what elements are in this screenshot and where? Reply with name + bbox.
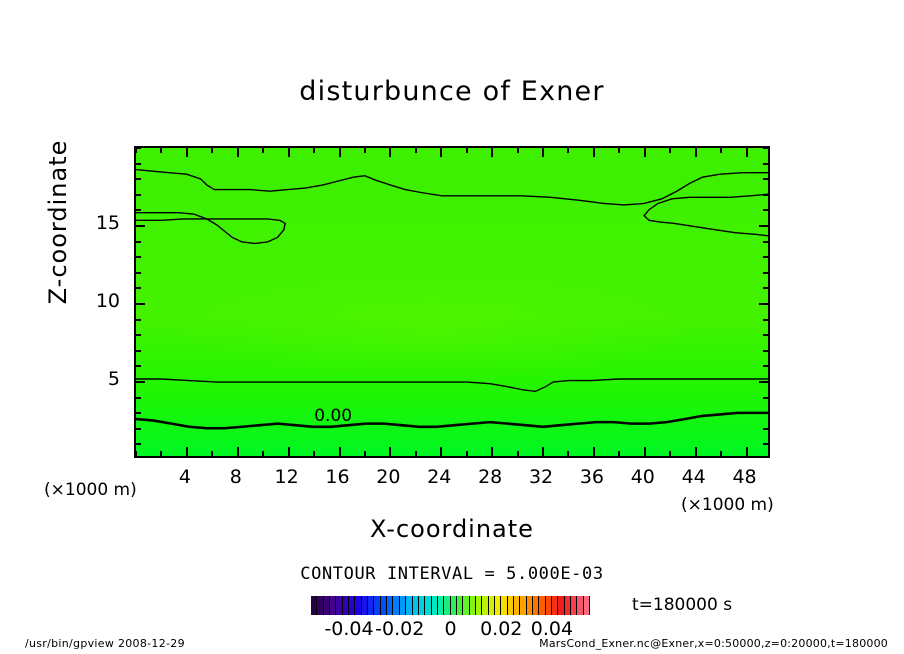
x-tick [262, 451, 264, 456]
x-tick-label: 32 [513, 466, 569, 488]
x-tick-top [720, 148, 722, 153]
y-axis-title: Z-coordinate [44, 122, 72, 322]
x-tick-label: 48 [717, 466, 773, 488]
x-tick [746, 447, 748, 456]
x-tick-top [567, 148, 569, 153]
contour-plot-area[interactable] [134, 146, 770, 458]
x-tick [466, 451, 468, 456]
x-tick-label: 20 [360, 466, 416, 488]
x-tick-top [618, 148, 620, 153]
y-tick [136, 397, 141, 399]
x-tick [593, 447, 595, 456]
x-tick-top [644, 148, 646, 157]
x-tick-top [415, 148, 417, 153]
x-tick-top [695, 148, 697, 157]
x-tick [618, 451, 620, 456]
y-tick-right [763, 256, 768, 258]
y-tick-right [763, 350, 768, 352]
y-tick-right [759, 381, 768, 383]
y-tick-right [763, 334, 768, 336]
x-tick-label: 40 [615, 466, 671, 488]
y-tick [136, 163, 141, 165]
x-tick [669, 451, 671, 456]
y-tick [136, 303, 145, 305]
x-tick [313, 451, 315, 456]
footer-command-text: /usr/bin/gpview 2008-12-29 [25, 637, 185, 650]
x-tick [491, 447, 493, 456]
x-tick [517, 451, 519, 456]
x-axis-title: X-coordinate [0, 515, 904, 543]
y-tick-right [759, 303, 768, 305]
x-tick-label: 8 [208, 466, 264, 488]
x-tick [644, 447, 646, 456]
colorbar[interactable] [311, 596, 590, 615]
y-tick-right [763, 209, 768, 211]
y-tick-right [763, 397, 768, 399]
y-tick [136, 194, 141, 196]
x-tick [567, 451, 569, 456]
x-tick-top [542, 148, 544, 157]
y-tick-right [763, 365, 768, 367]
x-tick [364, 451, 366, 456]
x-tick-top [313, 148, 315, 153]
field-soft-region [176, 262, 693, 380]
x-tick-label: 4 [157, 466, 213, 488]
y-tick [136, 225, 145, 227]
x-tick-label: 36 [564, 466, 620, 488]
x-tick-label: 44 [666, 466, 722, 488]
y-tick-right [763, 194, 768, 196]
y-tick-right [759, 225, 768, 227]
x-tick-top [339, 148, 341, 157]
x-tick-top [364, 148, 366, 153]
contour-label-zero: 0.00 [314, 406, 352, 426]
x-tick-top [288, 148, 290, 157]
x-tick [415, 451, 417, 456]
x-tick [695, 447, 697, 456]
x-tick-top [746, 148, 748, 157]
y-tick [136, 412, 141, 414]
x-tick [288, 447, 290, 456]
y-tick-right [763, 241, 768, 243]
x-tick-top [669, 148, 671, 153]
x-tick-label: 16 [310, 466, 366, 488]
y-tick [136, 272, 141, 274]
x-tick-top [466, 148, 468, 153]
x-tick [186, 447, 188, 456]
colorbar-segment [584, 596, 590, 615]
x-axis-unit-left: (×1000 m) [44, 480, 137, 500]
y-tick [136, 334, 141, 336]
x-tick-top [186, 148, 188, 157]
x-tick [542, 447, 544, 456]
y-tick-right [763, 319, 768, 321]
y-tick [136, 365, 141, 367]
y-tick [136, 147, 141, 149]
x-tick [389, 447, 391, 456]
x-tick-label: 24 [411, 466, 467, 488]
y-tick-right [763, 443, 768, 445]
x-tick [720, 451, 722, 456]
contour-interval-text: CONTOUR INTERVAL = 5.000E-03 [0, 564, 904, 584]
x-tick-top [262, 148, 264, 153]
y-tick [136, 209, 141, 211]
x-tick [160, 451, 162, 456]
footer-dataset-text: MarsCond_Exner.nc@Exner,x=0:50000,z=0:20… [539, 637, 888, 650]
contour-plot-canvas [136, 148, 768, 456]
y-tick [136, 256, 141, 258]
x-tick-top [491, 148, 493, 157]
page-title: disturbunce of Exner [0, 76, 904, 107]
x-tick-top [389, 148, 391, 157]
x-axis-unit-right: (×1000 m) [681, 495, 774, 515]
y-tick [136, 319, 141, 321]
y-tick-right [763, 178, 768, 180]
x-tick [237, 447, 239, 456]
x-tick-top [237, 148, 239, 157]
y-tick-right [763, 272, 768, 274]
time-label: t=180000 s [632, 595, 732, 615]
x-tick [211, 451, 213, 456]
x-tick-label: 12 [259, 466, 315, 488]
y-tick [136, 381, 145, 383]
y-tick-right [763, 287, 768, 289]
x-tick-top [160, 148, 162, 153]
x-tick-top [440, 148, 442, 157]
x-tick-top [593, 148, 595, 157]
y-tick-label: 5 [60, 368, 120, 390]
x-tick-label: 28 [462, 466, 518, 488]
y-tick-right [763, 147, 768, 149]
x-tick-top [211, 148, 213, 153]
y-tick [136, 178, 141, 180]
y-tick [136, 241, 141, 243]
x-tick [440, 447, 442, 456]
y-tick-right [763, 428, 768, 430]
y-tick [136, 443, 141, 445]
x-tick [339, 447, 341, 456]
y-tick [136, 287, 141, 289]
x-tick-top [517, 148, 519, 153]
y-tick [136, 428, 141, 430]
y-tick [136, 350, 141, 352]
y-tick-right [763, 163, 768, 165]
y-tick-right [763, 412, 768, 414]
x-tick [135, 451, 137, 456]
